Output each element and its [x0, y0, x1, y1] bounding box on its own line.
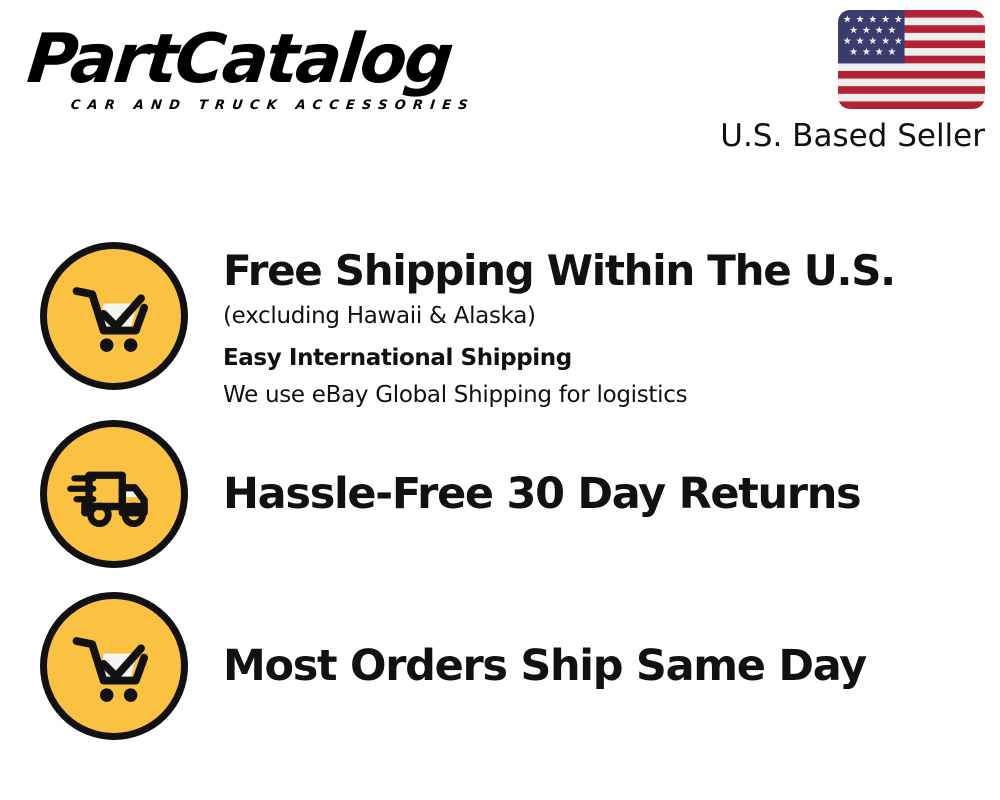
feature-badge-same-day: [40, 592, 188, 740]
us-flag-icon: [838, 10, 985, 109]
feature-badge-free-shipping: [40, 242, 188, 390]
brand-logo[interactable]: PartCatalog CAR AND TRUCK ACCESSORIES: [24, 22, 494, 114]
seller-badge-label: U.S. Based Seller: [715, 117, 985, 155]
feature-text: Most Orders Ship Same Day: [188, 640, 980, 692]
delivery-truck-icon: [62, 442, 166, 546]
feature-subtext-strong: Easy International Shipping: [223, 341, 980, 375]
feature-row: Most Orders Ship Same Day: [40, 590, 980, 742]
feature-heading: Hassle-Free 30 Day Returns: [223, 468, 980, 520]
feature-text: Hassle-Free 30 Day Returns: [188, 468, 980, 520]
feature-text: Free Shipping Within The U.S. (excluding…: [188, 242, 980, 412]
feature-subtext-secondary: We use eBay Global Shipping for logistic…: [223, 378, 980, 412]
feature-heading: Free Shipping Within The U.S.: [223, 246, 980, 296]
feature-subtext: (excluding Hawaii & Alaska): [223, 299, 980, 333]
brand-wordmark: PartCatalog: [24, 22, 455, 98]
shopping-cart-check-icon: [62, 264, 166, 368]
feature-badge-returns: [40, 420, 188, 568]
brand-tagline: CAR AND TRUCK ACCESSORIES: [70, 98, 476, 113]
shopping-cart-check-icon: [62, 614, 166, 718]
us-based-seller-badge: U.S. Based Seller: [715, 10, 985, 155]
feature-row: Hassle-Free 30 Day Returns: [40, 418, 980, 570]
feature-row: Free Shipping Within The U.S. (excluding…: [40, 242, 980, 402]
feature-heading: Most Orders Ship Same Day: [223, 640, 980, 692]
